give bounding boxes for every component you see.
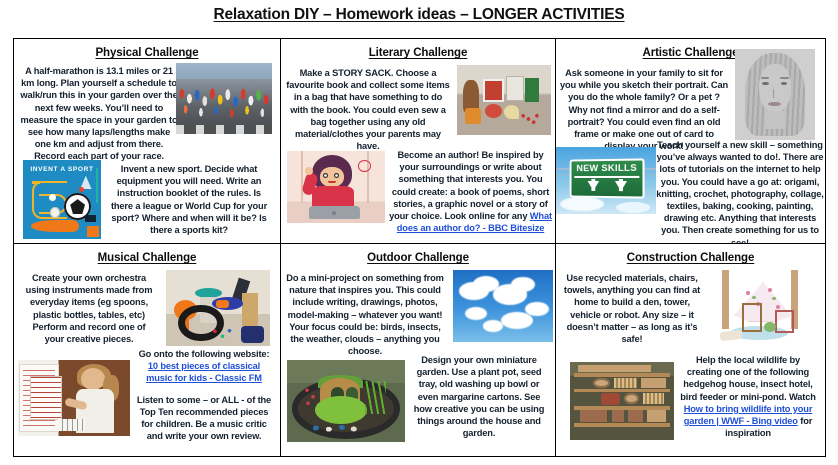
outdoor-paragraph-2: Design your own miniature garden. Use a …	[409, 354, 549, 439]
cell-musical-challenge: Musical Challenge Create your own orches…	[14, 244, 281, 456]
marathon-runners-photo	[176, 63, 272, 134]
story-sack-photo	[457, 65, 551, 135]
cell-construction-challenge: Construction Challenge Use recycled mate…	[556, 244, 825, 456]
musical-paragraph-3: Listen to some – or ALL - of the Top Ten…	[134, 394, 274, 443]
page-title: Relaxation DIY – Homework ideas – LONGER…	[0, 6, 838, 24]
homemade-instruments-photo	[166, 270, 270, 346]
child-playing-piano-photo	[18, 360, 130, 436]
cell-artistic-challenge: Artistic Challenge Ask someone in your f…	[556, 39, 825, 244]
clouds-sky-photo	[453, 270, 553, 342]
artistic-paragraph-2: Teach yourself a new skill – something y…	[656, 139, 824, 244]
construction-challenge-title: Construction Challenge	[556, 252, 825, 264]
invent-a-sport-poster-image: INVENT A SPORT	[23, 160, 101, 239]
outdoor-paragraph-1: Do a mini-project on something from natu…	[283, 272, 447, 357]
author-cartoon-image	[287, 151, 385, 223]
literary-paragraph-2: Become an author! Be inspired by your su…	[389, 150, 549, 221]
literary-challenge-title: Literary Challenge	[281, 47, 555, 59]
literary-paragraph-1: Make a STORY SACK. Choose a favourite bo…	[285, 67, 451, 152]
pencil-portrait-sketch-image	[735, 49, 815, 140]
musical-challenge-title: Musical Challenge	[14, 252, 280, 264]
new-skills-caption: NEW SKILLS	[572, 163, 643, 175]
musical-paragraph-2: Go onto the following website:	[134, 348, 274, 360]
miniature-garden-photo	[287, 360, 405, 442]
musical-paragraph-1: Create your own orchestra using instrume…	[24, 272, 154, 345]
document-page: Relaxation DIY – Homework ideas – LONGER…	[0, 0, 838, 465]
classic-fm-link[interactable]: 10 best pieces of classical music for ki…	[146, 361, 262, 383]
wwf-bing-video-link[interactable]: How to bring wildlife into your garden |…	[684, 404, 813, 426]
den-illustration-image	[712, 270, 812, 346]
outdoor-challenge-title: Outdoor Challenge	[281, 252, 555, 264]
invent-a-sport-caption: INVENT A SPORT	[23, 166, 101, 173]
physical-paragraph-2: Invent a new sport. Decide what equipmen…	[106, 163, 272, 236]
construction-paragraph-1: Use recycled materials, chairs, towels, …	[562, 272, 702, 345]
physical-challenge-title: Physical Challenge	[14, 47, 280, 59]
construction-paragraph-2: Help the local wildlife by creating one …	[680, 355, 816, 402]
cell-outdoor-challenge: Outdoor Challenge Do a mini-project on s…	[281, 244, 556, 456]
physical-paragraph-1: A half-marathon is 13.1 miles or 21 km l…	[20, 65, 178, 163]
new-skills-road-sign-image: NEW SKILLS	[556, 147, 656, 214]
cell-literary-challenge: Literary Challenge Make a STORY SACK. Ch…	[281, 39, 556, 244]
activities-table: Physical Challenge A half-marathon is 13…	[13, 38, 826, 457]
cell-physical-challenge: Physical Challenge A half-marathon is 13…	[14, 39, 281, 244]
bug-hotel-photo	[570, 362, 674, 440]
